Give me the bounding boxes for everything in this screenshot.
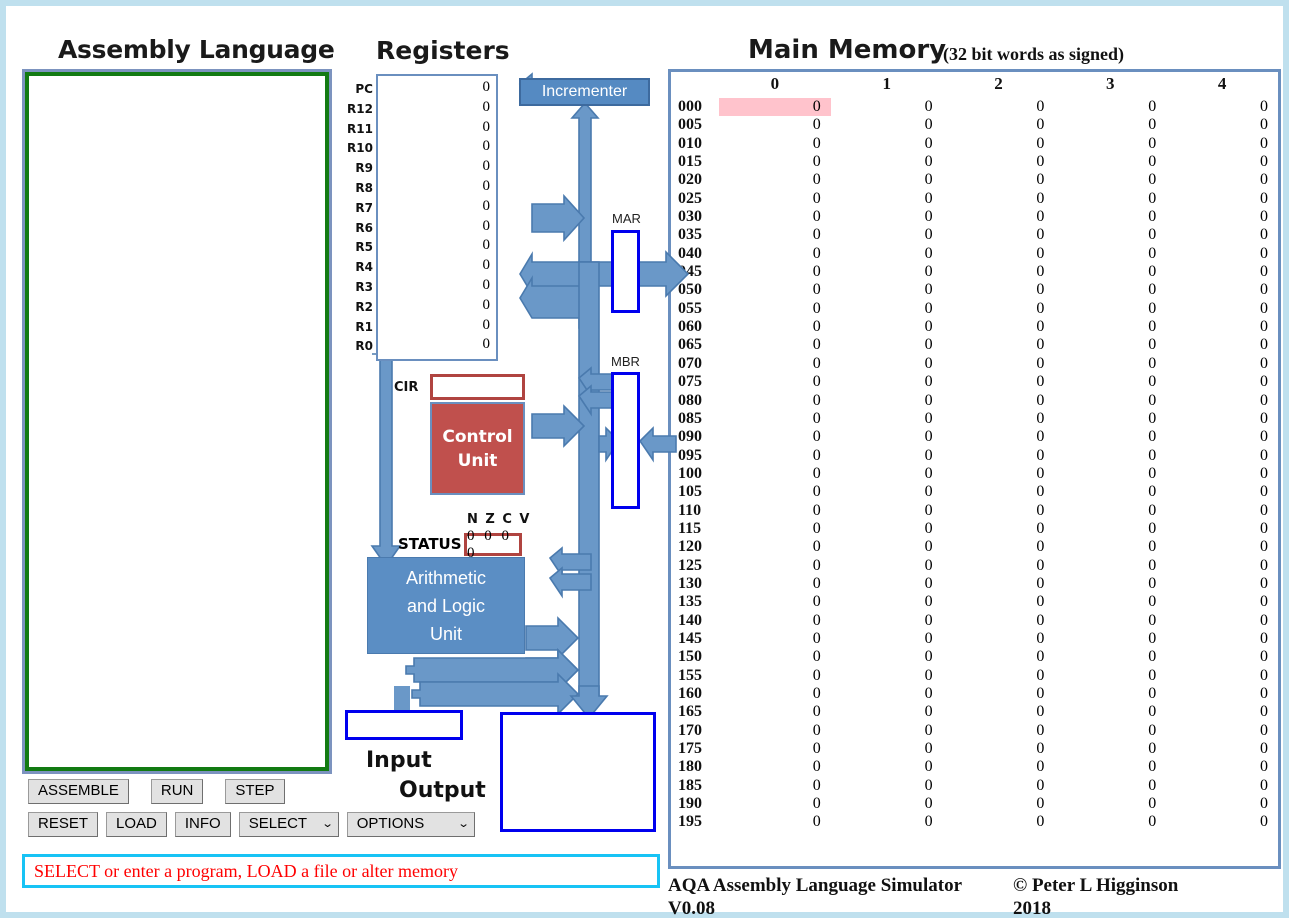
memory-cell-055-4[interactable]: 0 xyxy=(1166,300,1278,318)
memory-cell-145-1[interactable]: 0 xyxy=(831,630,943,648)
memory-cell-090-3[interactable]: 0 xyxy=(1054,428,1166,446)
memory-row: 15500000 xyxy=(671,667,1278,685)
memory-cell-045-2[interactable]: 0 xyxy=(943,263,1055,281)
memory-cell-020-0[interactable]: 0 xyxy=(719,171,831,189)
memory-table: 01234 0000000000500000010000000150000002… xyxy=(671,72,1278,832)
memory-cell-065-4[interactable]: 0 xyxy=(1166,336,1278,354)
memory-cell-175-3[interactable]: 0 xyxy=(1054,740,1166,758)
memory-cell-050-4[interactable]: 0 xyxy=(1166,281,1278,299)
alu-line3: Unit xyxy=(430,620,462,648)
register-label-r0: R0 xyxy=(339,339,373,353)
memory-cell-025-0[interactable]: 0 xyxy=(719,190,831,208)
memory-cell-065-2[interactable]: 0 xyxy=(943,336,1055,354)
memory-cell-095-2[interactable]: 0 xyxy=(943,447,1055,465)
memory-cell-145-0[interactable]: 0 xyxy=(719,630,831,648)
memory-cell-170-0[interactable]: 0 xyxy=(719,722,831,740)
memory-cell-095-1[interactable]: 0 xyxy=(831,447,943,465)
memory-cell-160-0[interactable]: 0 xyxy=(719,685,831,703)
register-value-r9[interactable]: 0 xyxy=(450,158,490,175)
footer-copyright: © Peter L Higginson 2018 xyxy=(1013,874,1178,920)
memory-column-header-3: 3 xyxy=(1054,72,1166,98)
memory-cell-185-0[interactable]: 0 xyxy=(719,777,831,795)
memory-cell-150-2[interactable]: 0 xyxy=(943,648,1055,666)
memory-table-header-row: 01234 xyxy=(671,72,1278,98)
memory-cell-165-2[interactable]: 0 xyxy=(943,703,1055,721)
memory-cell-125-1[interactable]: 0 xyxy=(831,557,943,575)
memory-cell-180-3[interactable]: 0 xyxy=(1054,758,1166,776)
memory-cell-010-3[interactable]: 0 xyxy=(1054,135,1166,153)
memory-cell-110-3[interactable]: 0 xyxy=(1054,502,1166,520)
memory-cell-140-3[interactable]: 0 xyxy=(1054,612,1166,630)
memory-row: 18500000 xyxy=(671,777,1278,795)
assemble-button[interactable]: ASSEMBLE xyxy=(28,779,129,804)
register-value-r4[interactable]: 0 xyxy=(450,257,490,274)
memory-cell-005-2[interactable]: 0 xyxy=(943,116,1055,134)
memory-cell-155-3[interactable]: 0 xyxy=(1054,667,1166,685)
register-label-r10: R10 xyxy=(339,141,373,155)
memory-cell-085-2[interactable]: 0 xyxy=(943,410,1055,428)
memory-cell-160-3[interactable]: 0 xyxy=(1054,685,1166,703)
memory-row: 00000000 xyxy=(671,98,1278,116)
memory-row: 11000000 xyxy=(671,502,1278,520)
register-value-r5[interactable]: 0 xyxy=(450,237,490,254)
memory-cell-070-4[interactable]: 0 xyxy=(1166,355,1278,373)
memory-cell-070-0[interactable]: 0 xyxy=(719,355,831,373)
memory-row: 14500000 xyxy=(671,630,1278,648)
register-label-r7: R7 xyxy=(339,201,373,215)
memory-cell-005-3[interactable]: 0 xyxy=(1054,116,1166,134)
memory-cell-050-1[interactable]: 0 xyxy=(831,281,943,299)
memory-cell-110-0[interactable]: 0 xyxy=(719,502,831,520)
register-label-r9: R9 xyxy=(339,161,373,175)
memory-cell-085-3[interactable]: 0 xyxy=(1054,410,1166,428)
memory-row: 00500000 xyxy=(671,116,1278,134)
memory-cell-005-1[interactable]: 0 xyxy=(831,116,943,134)
memory-cell-150-0[interactable]: 0 xyxy=(719,648,831,666)
memory-cell-120-3[interactable]: 0 xyxy=(1054,538,1166,556)
memory-cell-170-2[interactable]: 0 xyxy=(943,722,1055,740)
memory-cell-025-4[interactable]: 0 xyxy=(1166,190,1278,208)
memory-cell-000-1[interactable]: 0 xyxy=(831,98,943,116)
memory-cell-105-1[interactable]: 0 xyxy=(831,483,943,501)
memory-cell-070-2[interactable]: 0 xyxy=(943,355,1055,373)
primary-button-row: ASSEMBLE RUN STEP xyxy=(28,779,285,804)
memory-row: 16000000 xyxy=(671,685,1278,703)
memory-cell-090-1[interactable]: 0 xyxy=(831,428,943,446)
memory-cell-035-0[interactable]: 0 xyxy=(719,226,831,244)
memory-cell-040-0[interactable]: 0 xyxy=(719,245,831,263)
memory-cell-080-1[interactable]: 0 xyxy=(831,392,943,410)
register-value-pc[interactable]: 0 xyxy=(450,79,490,96)
memory-cell-005-4[interactable]: 0 xyxy=(1166,116,1278,134)
memory-cell-155-0[interactable]: 0 xyxy=(719,667,831,685)
memory-cell-190-1[interactable]: 0 xyxy=(831,795,943,813)
memory-cell-105-2[interactable]: 0 xyxy=(943,483,1055,501)
memory-cell-165-0[interactable]: 0 xyxy=(719,703,831,721)
input-label: Input xyxy=(366,748,432,773)
memory-cell-125-3[interactable]: 0 xyxy=(1054,557,1166,575)
reset-button[interactable]: RESET xyxy=(28,812,98,837)
memory-cell-075-1[interactable]: 0 xyxy=(831,373,943,391)
memory-cell-195-0[interactable]: 0 xyxy=(719,813,831,831)
memory-cell-135-0[interactable]: 0 xyxy=(719,593,831,611)
memory-cell-045-3[interactable]: 0 xyxy=(1054,263,1166,281)
memory-cell-120-1[interactable]: 0 xyxy=(831,538,943,556)
memory-row: 10500000 xyxy=(671,483,1278,501)
register-value-r6[interactable]: 0 xyxy=(450,218,490,235)
memory-row: 13000000 xyxy=(671,575,1278,593)
memory-cell-055-2[interactable]: 0 xyxy=(943,300,1055,318)
memory-cell-190-2[interactable]: 0 xyxy=(943,795,1055,813)
memory-cell-065-3[interactable]: 0 xyxy=(1054,336,1166,354)
memory-cell-175-1[interactable]: 0 xyxy=(831,740,943,758)
assembly-language-title: Assembly Language xyxy=(58,35,335,64)
memory-cell-120-2[interactable]: 0 xyxy=(943,538,1055,556)
memory-row: 15000000 xyxy=(671,648,1278,666)
main-memory-subtitle: (32 bit words as signed) xyxy=(943,44,1124,65)
memory-cell-120-4[interactable]: 0 xyxy=(1166,538,1278,556)
memory-cell-040-1[interactable]: 0 xyxy=(831,245,943,263)
memory-row: 19500000 xyxy=(671,813,1278,831)
memory-cell-080-3[interactable]: 0 xyxy=(1054,392,1166,410)
register-label-r2: R2 xyxy=(339,300,373,314)
memory-cell-195-1[interactable]: 0 xyxy=(831,813,943,831)
memory-cell-170-4[interactable]: 0 xyxy=(1166,722,1278,740)
memory-cell-080-2[interactable]: 0 xyxy=(943,392,1055,410)
chevron-down-icon: ⌄ xyxy=(321,815,333,833)
status-message-bar[interactable]: SELECT or enter a program, LOAD a file o… xyxy=(22,854,660,888)
register-value-r7[interactable]: 0 xyxy=(450,198,490,215)
memory-row: 02000000 xyxy=(671,171,1278,189)
memory-cell-185-4[interactable]: 0 xyxy=(1166,777,1278,795)
memory-cell-115-0[interactable]: 0 xyxy=(719,520,831,538)
memory-cell-130-2[interactable]: 0 xyxy=(943,575,1055,593)
memory-cell-100-4[interactable]: 0 xyxy=(1166,465,1278,483)
register-value-r2[interactable]: 0 xyxy=(450,297,490,314)
memory-cell-165-1[interactable]: 0 xyxy=(831,703,943,721)
memory-cell-180-0[interactable]: 0 xyxy=(719,758,831,776)
memory-cell-025-1[interactable]: 0 xyxy=(831,190,943,208)
memory-row: 07000000 xyxy=(671,355,1278,373)
memory-cell-010-1[interactable]: 0 xyxy=(831,135,943,153)
memory-column-header-1: 1 xyxy=(831,72,943,98)
memory-cell-055-3[interactable]: 0 xyxy=(1054,300,1166,318)
memory-row: 03500000 xyxy=(671,226,1278,244)
memory-cell-145-2[interactable]: 0 xyxy=(943,630,1055,648)
control-unit-block: Control Unit xyxy=(430,402,525,495)
memory-cell-060-2[interactable]: 0 xyxy=(943,318,1055,336)
memory-cell-060-3[interactable]: 0 xyxy=(1054,318,1166,336)
memory-cell-095-0[interactable]: 0 xyxy=(719,447,831,465)
memory-cell-080-0[interactable]: 0 xyxy=(719,392,831,410)
memory-cell-180-4[interactable]: 0 xyxy=(1166,758,1278,776)
memory-cell-030-1[interactable]: 0 xyxy=(831,208,943,226)
memory-cell-015-1[interactable]: 0 xyxy=(831,153,943,171)
memory-cell-055-1[interactable]: 0 xyxy=(831,300,943,318)
memory-cell-130-3[interactable]: 0 xyxy=(1054,575,1166,593)
memory-cell-140-2[interactable]: 0 xyxy=(943,612,1055,630)
memory-cell-010-4[interactable]: 0 xyxy=(1166,135,1278,153)
alu-block: Arithmetic and Logic Unit xyxy=(367,557,525,654)
memory-cell-130-4[interactable]: 0 xyxy=(1166,575,1278,593)
memory-cell-175-4[interactable]: 0 xyxy=(1166,740,1278,758)
memory-cell-160-2[interactable]: 0 xyxy=(943,685,1055,703)
memory-cell-190-4[interactable]: 0 xyxy=(1166,795,1278,813)
memory-cell-085-4[interactable]: 0 xyxy=(1166,410,1278,428)
memory-cell-185-1[interactable]: 0 xyxy=(831,777,943,795)
output-panel[interactable] xyxy=(500,712,656,832)
memory-cell-105-4[interactable]: 0 xyxy=(1166,483,1278,501)
status-label: STATUS xyxy=(398,535,462,553)
memory-cell-115-3[interactable]: 0 xyxy=(1054,520,1166,538)
memory-cell-040-4[interactable]: 0 xyxy=(1166,245,1278,263)
register-label-r4: R4 xyxy=(339,260,373,274)
memory-cell-015-3[interactable]: 0 xyxy=(1054,153,1166,171)
memory-cell-000-3[interactable]: 0 xyxy=(1054,98,1166,116)
memory-cell-150-4[interactable]: 0 xyxy=(1166,648,1278,666)
memory-cell-195-2[interactable]: 0 xyxy=(943,813,1055,831)
memory-cell-035-2[interactable]: 0 xyxy=(943,226,1055,244)
memory-column-header-4: 4 xyxy=(1166,72,1278,98)
select-dropdown[interactable]: SELECT ⌄ xyxy=(239,812,339,837)
memory-row: 01000000 xyxy=(671,135,1278,153)
register-value-r10[interactable]: 0 xyxy=(450,138,490,155)
memory-cell-135-4[interactable]: 0 xyxy=(1166,593,1278,611)
main-memory-title: Main Memory xyxy=(748,35,946,65)
memory-row: 04500000 xyxy=(671,263,1278,281)
run-button[interactable]: RUN xyxy=(151,779,204,804)
memory-cell-070-1[interactable]: 0 xyxy=(831,355,943,373)
memory-cell-080-4[interactable]: 0 xyxy=(1166,392,1278,410)
memory-row: 12000000 xyxy=(671,538,1278,556)
memory-cell-145-4[interactable]: 0 xyxy=(1166,630,1278,648)
memory-cell-015-4[interactable]: 0 xyxy=(1166,153,1278,171)
memory-cell-110-1[interactable]: 0 xyxy=(831,502,943,520)
memory-cell-130-1[interactable]: 0 xyxy=(831,575,943,593)
memory-cell-075-0[interactable]: 0 xyxy=(719,373,831,391)
memory-cell-045-0[interactable]: 0 xyxy=(719,263,831,281)
memory-cell-075-4[interactable]: 0 xyxy=(1166,373,1278,391)
register-value-r12[interactable]: 0 xyxy=(450,99,490,116)
memory-cell-140-1[interactable]: 0 xyxy=(831,612,943,630)
memory-cell-115-4[interactable]: 0 xyxy=(1166,520,1278,538)
memory-cell-170-3[interactable]: 0 xyxy=(1054,722,1166,740)
memory-cell-040-3[interactable]: 0 xyxy=(1054,245,1166,263)
memory-cell-030-2[interactable]: 0 xyxy=(943,208,1055,226)
alu-line2: and Logic xyxy=(407,592,485,620)
memory-row: 06500000 xyxy=(671,336,1278,354)
mar-register[interactable] xyxy=(611,230,640,313)
memory-cell-115-1[interactable]: 0 xyxy=(831,520,943,538)
memory-cell-155-4[interactable]: 0 xyxy=(1166,667,1278,685)
memory-row: 17500000 xyxy=(671,740,1278,758)
memory-cell-155-2[interactable]: 0 xyxy=(943,667,1055,685)
assembly-language-textarea[interactable] xyxy=(25,72,329,771)
memory-cell-115-2[interactable]: 0 xyxy=(943,520,1055,538)
load-button[interactable]: LOAD xyxy=(106,812,167,837)
memory-cell-125-4[interactable]: 0 xyxy=(1166,557,1278,575)
memory-cell-090-0[interactable]: 0 xyxy=(719,428,831,446)
memory-cell-085-1[interactable]: 0 xyxy=(831,410,943,428)
memory-cell-035-3[interactable]: 0 xyxy=(1054,226,1166,244)
memory-row: 18000000 xyxy=(671,758,1278,776)
memory-row: 13500000 xyxy=(671,593,1278,611)
memory-cell-015-0[interactable]: 0 xyxy=(719,153,831,171)
memory-cell-165-3[interactable]: 0 xyxy=(1054,703,1166,721)
register-value-r3[interactable]: 0 xyxy=(450,277,490,294)
memory-row: 01500000 xyxy=(671,153,1278,171)
memory-cell-050-3[interactable]: 0 xyxy=(1054,281,1166,299)
memory-cell-025-3[interactable]: 0 xyxy=(1054,190,1166,208)
memory-cell-030-3[interactable]: 0 xyxy=(1054,208,1166,226)
memory-cell-140-0[interactable]: 0 xyxy=(719,612,831,630)
memory-cell-195-3[interactable]: 0 xyxy=(1054,813,1166,831)
mbr-label: MBR xyxy=(611,354,640,369)
register-value-r11[interactable]: 0 xyxy=(450,119,490,136)
memory-cell-040-2[interactable]: 0 xyxy=(943,245,1055,263)
memory-cell-150-3[interactable]: 0 xyxy=(1054,648,1166,666)
memory-cell-020-4[interactable]: 0 xyxy=(1166,171,1278,189)
memory-cell-140-4[interactable]: 0 xyxy=(1166,612,1278,630)
memory-cell-090-4[interactable]: 0 xyxy=(1166,428,1278,446)
memory-cell-000-2[interactable]: 0 xyxy=(943,98,1055,116)
memory-cell-045-4[interactable]: 0 xyxy=(1166,263,1278,281)
memory-cell-160-4[interactable]: 0 xyxy=(1166,685,1278,703)
memory-cell-100-0[interactable]: 0 xyxy=(719,465,831,483)
memory-cell-145-3[interactable]: 0 xyxy=(1054,630,1166,648)
memory-cell-180-1[interactable]: 0 xyxy=(831,758,943,776)
memory-cell-110-2[interactable]: 0 xyxy=(943,502,1055,520)
memory-cell-075-3[interactable]: 0 xyxy=(1054,373,1166,391)
memory-cell-010-0[interactable]: 0 xyxy=(719,135,831,153)
memory-row: 19000000 xyxy=(671,795,1278,813)
memory-cell-190-0[interactable]: 0 xyxy=(719,795,831,813)
memory-cell-175-0[interactable]: 0 xyxy=(719,740,831,758)
memory-cell-135-1[interactable]: 0 xyxy=(831,593,943,611)
info-button[interactable]: INFO xyxy=(175,812,231,837)
memory-row: 09000000 xyxy=(671,428,1278,446)
mbr-register[interactable] xyxy=(611,372,640,509)
memory-row: 11500000 xyxy=(671,520,1278,538)
input-field[interactable] xyxy=(345,710,463,740)
memory-cell-185-3[interactable]: 0 xyxy=(1054,777,1166,795)
memory-cell-090-2[interactable]: 0 xyxy=(943,428,1055,446)
memory-cell-095-4[interactable]: 0 xyxy=(1166,447,1278,465)
memory-cell-095-3[interactable]: 0 xyxy=(1054,447,1166,465)
memory-cell-020-1[interactable]: 0 xyxy=(831,171,943,189)
memory-cell-105-0[interactable]: 0 xyxy=(719,483,831,501)
step-button[interactable]: STEP xyxy=(225,779,284,804)
assembly-language-editor[interactable] xyxy=(22,69,332,774)
memory-cell-050-2[interactable]: 0 xyxy=(943,281,1055,299)
memory-cell-170-1[interactable]: 0 xyxy=(831,722,943,740)
memory-cell-190-3[interactable]: 0 xyxy=(1054,795,1166,813)
status-message-text: SELECT or enter a program, LOAD a file o… xyxy=(34,861,458,882)
memory-cell-060-0[interactable]: 0 xyxy=(719,318,831,336)
memory-cell-005-0[interactable]: 0 xyxy=(719,116,831,134)
control-unit-line1: Control xyxy=(442,425,512,449)
register-value-r0[interactable]: 0 xyxy=(450,336,490,353)
memory-cell-020-2[interactable]: 0 xyxy=(943,171,1055,189)
memory-cell-030-0[interactable]: 0 xyxy=(719,208,831,226)
memory-cell-165-4[interactable]: 0 xyxy=(1166,703,1278,721)
memory-cell-070-3[interactable]: 0 xyxy=(1054,355,1166,373)
memory-cell-030-4[interactable]: 0 xyxy=(1166,208,1278,226)
memory-cell-125-0[interactable]: 0 xyxy=(719,557,831,575)
memory-cell-075-2[interactable]: 0 xyxy=(943,373,1055,391)
register-label-r1: R1 xyxy=(339,320,373,334)
memory-cell-185-2[interactable]: 0 xyxy=(943,777,1055,795)
memory-row: 04000000 xyxy=(671,245,1278,263)
memory-cell-195-4[interactable]: 0 xyxy=(1166,813,1278,831)
simulator-page: Assembly Language ASSEMBLE RUN STEP RESE… xyxy=(0,0,1289,918)
memory-cell-035-1[interactable]: 0 xyxy=(831,226,943,244)
memory-cell-100-3[interactable]: 0 xyxy=(1054,465,1166,483)
main-memory-panel[interactable]: 01234 0000000000500000010000000150000002… xyxy=(668,69,1281,869)
register-label-r11: R11 xyxy=(339,122,373,136)
memory-cell-120-0[interactable]: 0 xyxy=(719,538,831,556)
memory-cell-015-2[interactable]: 0 xyxy=(943,153,1055,171)
memory-cell-000-0[interactable]: 0 xyxy=(719,98,831,116)
memory-cell-060-4[interactable]: 0 xyxy=(1166,318,1278,336)
memory-row: 17000000 xyxy=(671,722,1278,740)
memory-cell-150-1[interactable]: 0 xyxy=(831,648,943,666)
memory-cell-105-3[interactable]: 0 xyxy=(1054,483,1166,501)
memory-cell-025-2[interactable]: 0 xyxy=(943,190,1055,208)
status-register[interactable]: 0 0 0 0 xyxy=(464,533,522,556)
memory-cell-045-1[interactable]: 0 xyxy=(831,263,943,281)
select-dropdown-label: SELECT xyxy=(249,815,307,833)
cir-register[interactable] xyxy=(430,374,525,400)
memory-cell-100-1[interactable]: 0 xyxy=(831,465,943,483)
memory-cell-180-2[interactable]: 0 xyxy=(943,758,1055,776)
memory-cell-135-2[interactable]: 0 xyxy=(943,593,1055,611)
memory-cell-000-4[interactable]: 0 xyxy=(1166,98,1278,116)
memory-row: 08000000 xyxy=(671,392,1278,410)
control-unit-line2: Unit xyxy=(458,449,498,473)
mar-label: MAR xyxy=(612,211,641,226)
memory-cell-135-3[interactable]: 0 xyxy=(1054,593,1166,611)
memory-table-body: 0000000000500000010000000150000002000000… xyxy=(671,98,1278,832)
memory-cell-160-1[interactable]: 0 xyxy=(831,685,943,703)
register-value-r8[interactable]: 0 xyxy=(450,178,490,195)
memory-cell-100-2[interactable]: 0 xyxy=(943,465,1055,483)
output-label: Output xyxy=(399,778,486,803)
memory-row: 14000000 xyxy=(671,612,1278,630)
memory-cell-060-1[interactable]: 0 xyxy=(831,318,943,336)
memory-cell-130-0[interactable]: 0 xyxy=(719,575,831,593)
memory-row: 05000000 xyxy=(671,281,1278,299)
memory-cell-125-2[interactable]: 0 xyxy=(943,557,1055,575)
memory-cell-010-2[interactable]: 0 xyxy=(943,135,1055,153)
memory-cell-020-3[interactable]: 0 xyxy=(1054,171,1166,189)
register-label-r6: R6 xyxy=(339,221,373,235)
memory-cell-085-0[interactable]: 0 xyxy=(719,410,831,428)
memory-cell-155-1[interactable]: 0 xyxy=(831,667,943,685)
memory-column-header-0: 0 xyxy=(719,72,831,98)
memory-row: 02500000 xyxy=(671,190,1278,208)
memory-cell-110-4[interactable]: 0 xyxy=(1166,502,1278,520)
memory-cell-055-0[interactable]: 0 xyxy=(719,300,831,318)
register-label-r3: R3 xyxy=(339,280,373,294)
memory-cell-065-1[interactable]: 0 xyxy=(831,336,943,354)
memory-cell-065-0[interactable]: 0 xyxy=(719,336,831,354)
memory-cell-050-0[interactable]: 0 xyxy=(719,281,831,299)
memory-row: 16500000 xyxy=(671,703,1278,721)
memory-cell-035-4[interactable]: 0 xyxy=(1166,226,1278,244)
register-value-r1[interactable]: 0 xyxy=(450,317,490,334)
memory-cell-175-2[interactable]: 0 xyxy=(943,740,1055,758)
